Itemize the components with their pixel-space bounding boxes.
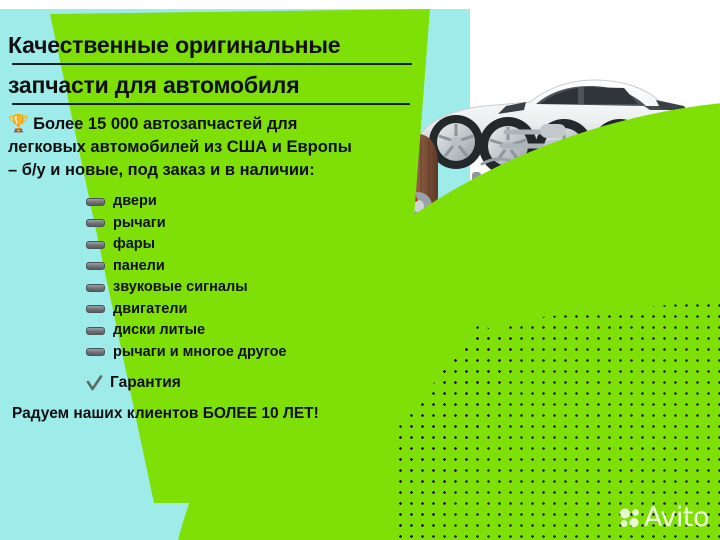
list-item-label: диски литые (113, 320, 205, 342)
list-item: двигатели (86, 299, 428, 321)
promo-line-1-row: 🏆Более 15 000 автозапчастей для (8, 112, 428, 136)
list-item: двери (86, 191, 428, 213)
list-item: рычаги (86, 213, 428, 235)
promo-paragraph: 🏆Более 15 000 автозапчастей для легковых… (8, 112, 428, 182)
advertisement-poster: Качественные оригинальные запчасти для а… (0, 0, 720, 540)
avito-dots-logo-icon (619, 508, 641, 528)
avito-watermark: Avito (619, 504, 709, 531)
avito-wordmark: Avito (644, 504, 709, 531)
bullet-dash-icon (86, 284, 105, 292)
footer-tagline: Радуем наших клиентов БОЛЕЕ 10 ЛЕТ! (12, 405, 428, 423)
headline-rule-1 (12, 63, 412, 65)
promo-line-2: легковых автомобилей из США и Европы (8, 136, 428, 159)
list-item-label: звуковые сигналы (113, 277, 248, 299)
list-item: звуковые сигналы (86, 277, 428, 299)
list-item-label: двери (113, 191, 157, 213)
white-top-strip (0, 0, 720, 9)
list-item-label: рычаги и многое другое (113, 342, 287, 364)
bullet-dash-icon (86, 241, 105, 249)
check-mark-icon (86, 375, 103, 392)
list-item-label: фары (113, 234, 155, 256)
list-item-label: рычаги (113, 213, 166, 235)
list-item-label: двигатели (113, 299, 187, 321)
parts-list: двери рычаги фары панели звуковые сигнал… (86, 191, 428, 363)
list-item: рычаги и многое другое (86, 342, 428, 364)
headline-rule-2 (12, 103, 410, 105)
list-item: панели (86, 256, 428, 278)
headline-line-2: запчасти для автомобиля (8, 70, 428, 100)
bullet-dash-icon (86, 348, 105, 356)
list-item: диски литые (86, 320, 428, 342)
promo-line-1: Более 15 000 автозапчастей для (33, 115, 297, 133)
trophy-icon: 🏆 (8, 114, 29, 133)
headline-line-1: Качественные оригинальные (8, 30, 428, 60)
guarantee-label: Гарантия (110, 374, 181, 392)
bullet-dash-icon (86, 198, 105, 206)
list-item-label: панели (113, 256, 165, 278)
bullet-dash-icon (86, 219, 105, 227)
list-item: фары (86, 234, 428, 256)
guarantee-row: Гарантия (86, 374, 428, 392)
bullet-dash-icon (86, 305, 105, 313)
bullet-dash-icon (86, 262, 105, 270)
poster-text-content: Качественные оригинальные запчасти для а… (8, 30, 428, 423)
promo-line-3: – б/у и новые, под заказ и в наличии: (8, 159, 428, 182)
bullet-dash-icon (86, 327, 105, 335)
